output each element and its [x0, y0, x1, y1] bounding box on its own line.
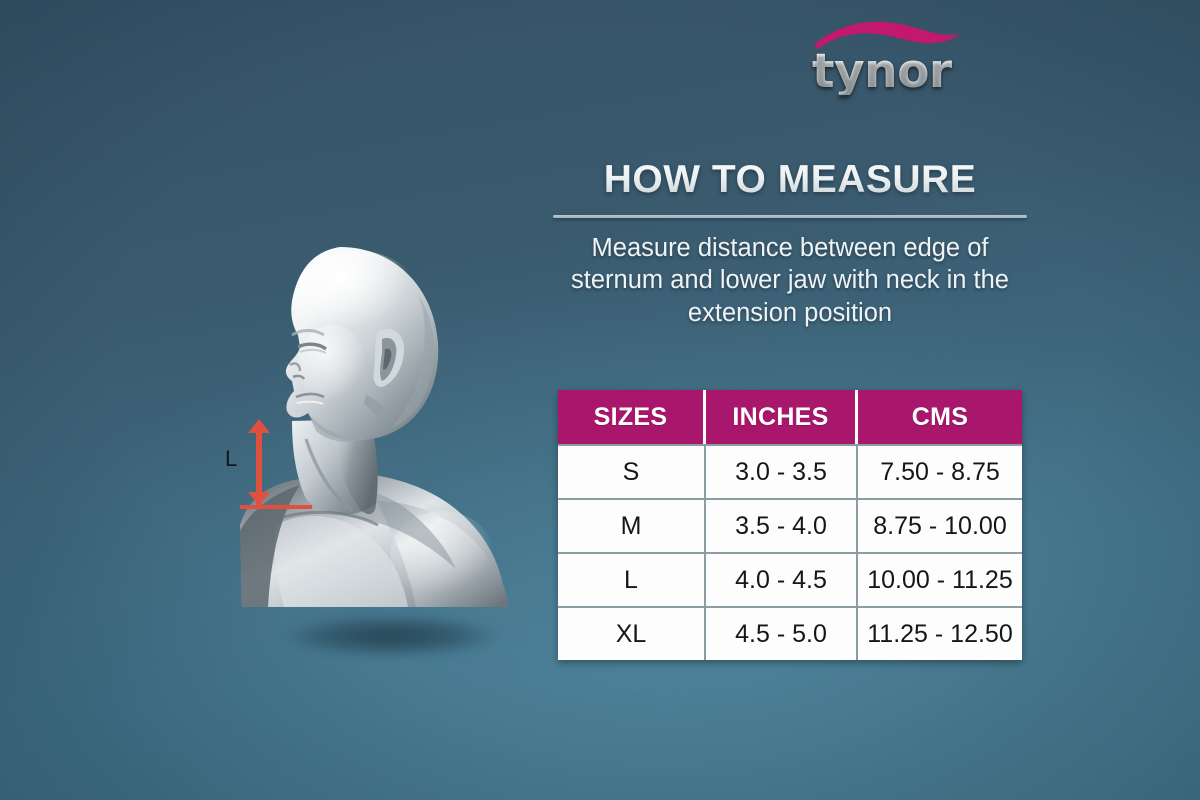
- measurement-annotation: L: [218, 418, 338, 518]
- cell-size: L: [558, 552, 706, 606]
- cell-size: S: [558, 444, 706, 498]
- size-chart-table: SIZES INCHES CMS S 3.0 - 3.5 7.50 - 8.75…: [558, 390, 1022, 660]
- measurement-label: L: [225, 446, 237, 472]
- cell-inches: 3.5 - 4.0: [706, 498, 858, 552]
- cell-inches: 4.5 - 5.0: [706, 606, 858, 660]
- table-row: M 3.5 - 4.0 8.75 - 10.00: [558, 498, 1022, 552]
- arrow-head-down-icon: [248, 492, 270, 506]
- title-divider: [553, 215, 1027, 218]
- page-title: HOW TO MEASURE: [540, 160, 1040, 201]
- measurement-baseline: [240, 505, 312, 509]
- cell-size: XL: [558, 606, 706, 660]
- table-row: L 4.0 - 4.5 10.00 - 11.25: [558, 552, 1022, 606]
- table-row: S 3.0 - 3.5 7.50 - 8.75: [558, 444, 1022, 498]
- cell-inches: 3.0 - 3.5: [706, 444, 858, 498]
- instruction-line-3: extension position: [540, 297, 1040, 329]
- table-header-row: SIZES INCHES CMS: [558, 390, 1022, 444]
- cell-size: M: [558, 498, 706, 552]
- instruction-text: Measure distance between edge of sternum…: [540, 232, 1040, 329]
- instruction-line-2: sternum and lower jaw with neck in the: [540, 264, 1040, 296]
- cell-cms: 7.50 - 8.75: [858, 444, 1022, 498]
- cell-cms: 8.75 - 10.00: [858, 498, 1022, 552]
- column-header-cms: CMS: [858, 390, 1022, 444]
- measure-instructions-panel: HOW TO MEASURE Measure distance between …: [540, 160, 1040, 329]
- column-header-inches: INCHES: [706, 390, 858, 444]
- instruction-line-1: Measure distance between edge of: [540, 232, 1040, 264]
- cell-cms: 11.25 - 12.50: [858, 606, 1022, 660]
- brand-logo: tynor: [806, 16, 966, 98]
- column-header-sizes: SIZES: [558, 390, 706, 444]
- cell-inches: 4.0 - 4.5: [706, 552, 858, 606]
- logo-wordmark: tynor: [812, 48, 952, 95]
- table-row: XL 4.5 - 5.0 11.25 - 12.50: [558, 606, 1022, 660]
- cell-cms: 10.00 - 11.25: [858, 552, 1022, 606]
